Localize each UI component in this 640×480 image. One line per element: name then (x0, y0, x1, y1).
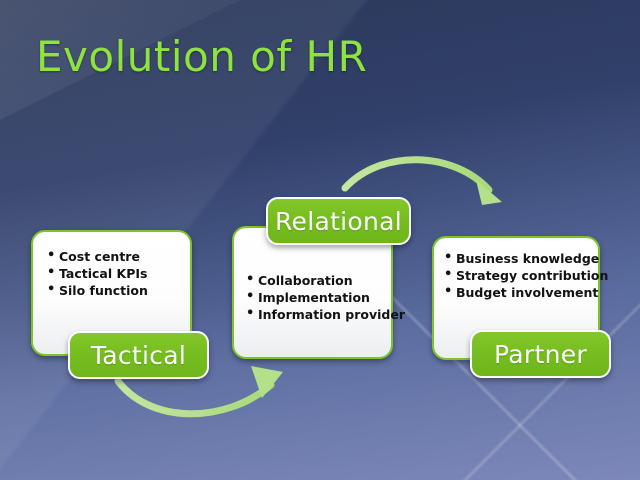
list-item: Cost centre (47, 248, 148, 265)
list-item: Collaboration (246, 272, 405, 289)
stage-card-relational[interactable]: Collaboration Implementation Information… (232, 226, 393, 359)
slide-canvas: Evolution of HR Cost cent (0, 0, 640, 480)
stage-label-tactical[interactable]: Tactical (68, 331, 209, 379)
list-item: Implementation (246, 289, 405, 306)
list-item: Silo function (47, 282, 148, 299)
bullet-list-tactical: Cost centre Tactical KPIs Silo function (47, 248, 148, 299)
stage-label-relational[interactable]: Relational (266, 197, 411, 245)
stage-label-partner[interactable]: Partner (470, 330, 611, 378)
list-item: Tactical KPIs (47, 265, 148, 282)
list-item: Business knowledge (444, 250, 608, 267)
list-item: Strategy contribution (444, 267, 608, 284)
list-item: Budget involvement (444, 284, 608, 301)
diagram-stage: Cost centre Tactical KPIs Silo function … (0, 0, 640, 480)
list-item: Information provider (246, 306, 405, 323)
bullet-list-partner: Business knowledge Strategy contribution… (444, 250, 608, 301)
bullet-list-relational: Collaboration Implementation Information… (246, 272, 405, 323)
